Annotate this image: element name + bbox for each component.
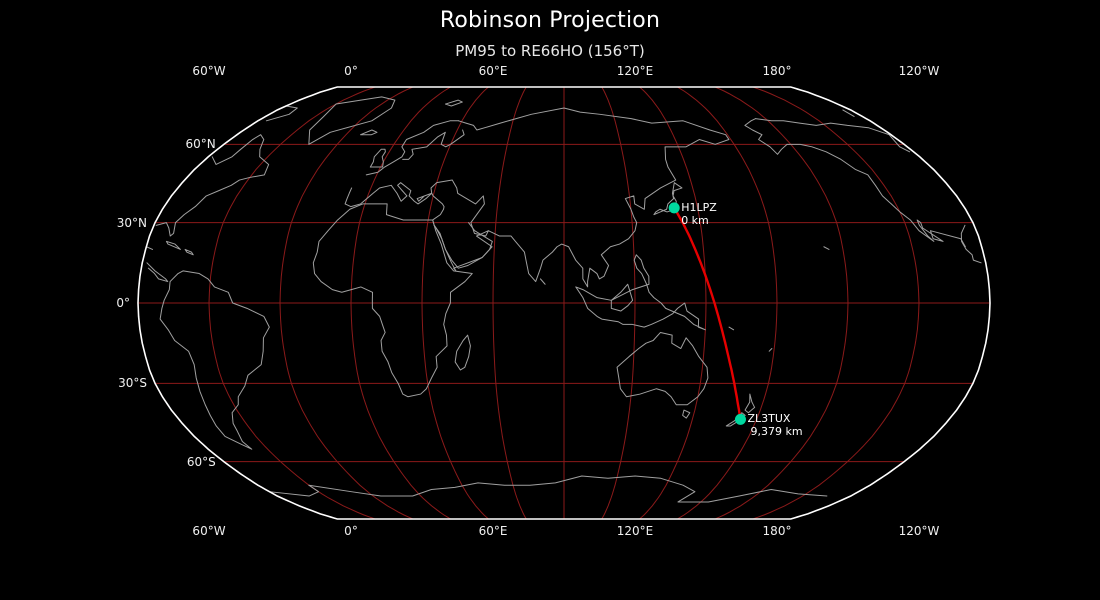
coastline-segment-1 — [345, 183, 432, 207]
lat-tick-3: 30°S — [0, 376, 147, 390]
coastline-segment-18 — [185, 249, 193, 254]
lon-tick-top-2: 120°E — [617, 64, 654, 78]
lon-tick-bottom-1: 60°E — [479, 524, 508, 538]
graticule-layer — [138, 87, 990, 519]
coastline-segment-8 — [576, 255, 706, 330]
lat-tick-0: 60°N — [0, 137, 216, 151]
lon-tick-bottom-4: 120°W — [899, 524, 940, 538]
coastline-segment-17 — [166, 241, 180, 249]
station-distance: 9,379 km — [750, 425, 802, 438]
lon-tick-bottom-5: 60°W — [192, 524, 225, 538]
path-line — [674, 208, 740, 419]
coastline-segment-14 — [146, 247, 152, 250]
coastline-segment-19 — [160, 271, 269, 449]
lon-tick-top-5: 60°W — [192, 64, 225, 78]
coastline-segment-22 — [361, 130, 377, 135]
coastline-segment-23 — [445, 100, 462, 106]
coastline-segment-6 — [455, 335, 470, 370]
coastline-segment-25 — [769, 349, 772, 352]
coastline-segment-7 — [434, 223, 492, 269]
coastline-segment-12 — [745, 394, 755, 413]
coastline-segment-27 — [729, 327, 734, 330]
lon-tick-bottom-0: 0° — [344, 524, 358, 538]
station-markers — [669, 202, 746, 424]
station-label-h1lpz: H1LPZ0 km — [681, 201, 717, 227]
coastline-segment-5 — [313, 204, 472, 397]
coastline-segment-14 — [755, 119, 909, 152]
great-circle-path — [674, 208, 740, 419]
lon-tick-top-3: 180° — [763, 64, 792, 78]
lat-tick-4: 60°S — [0, 455, 216, 469]
station-distance: 0 km — [681, 214, 717, 227]
lon-tick-bottom-3: 180° — [763, 524, 792, 538]
coastline-segment-9 — [611, 284, 632, 311]
lon-tick-bottom-2: 120°E — [617, 524, 654, 538]
coastline-segment-14 — [147, 263, 168, 282]
coastline-segment-2 — [370, 149, 385, 167]
coastline-segment-20 — [309, 476, 827, 502]
lon-tick-top-0: 0° — [344, 64, 358, 78]
coastline-segment-10 — [617, 332, 708, 404]
lon-tick-top-1: 60°E — [479, 64, 508, 78]
coastline-segment-20 — [269, 485, 318, 496]
lon-tick-top-4: 120°W — [899, 64, 940, 78]
coastline-segment-11 — [683, 410, 690, 418]
coastline-segment-26 — [824, 247, 829, 250]
station-marker-zl3tux[interactable] — [735, 414, 746, 425]
station-label-zl3tux: ZL3TUX9,379 km — [747, 412, 802, 438]
station-marker-h1lpz[interactable] — [669, 202, 680, 213]
lat-tick-2: 0° — [0, 296, 130, 310]
robinson-projection-map — [0, 0, 1100, 600]
coastline-segment-24 — [540, 279, 545, 284]
station-callsign: H1LPZ — [681, 201, 717, 214]
station-callsign: ZL3TUX — [747, 412, 802, 425]
coastline-segment-14 — [745, 119, 965, 247]
lat-tick-1: 30°N — [0, 216, 147, 230]
map-application: Robinson Projection PM95 to RE66HO (156°… — [0, 0, 1100, 600]
